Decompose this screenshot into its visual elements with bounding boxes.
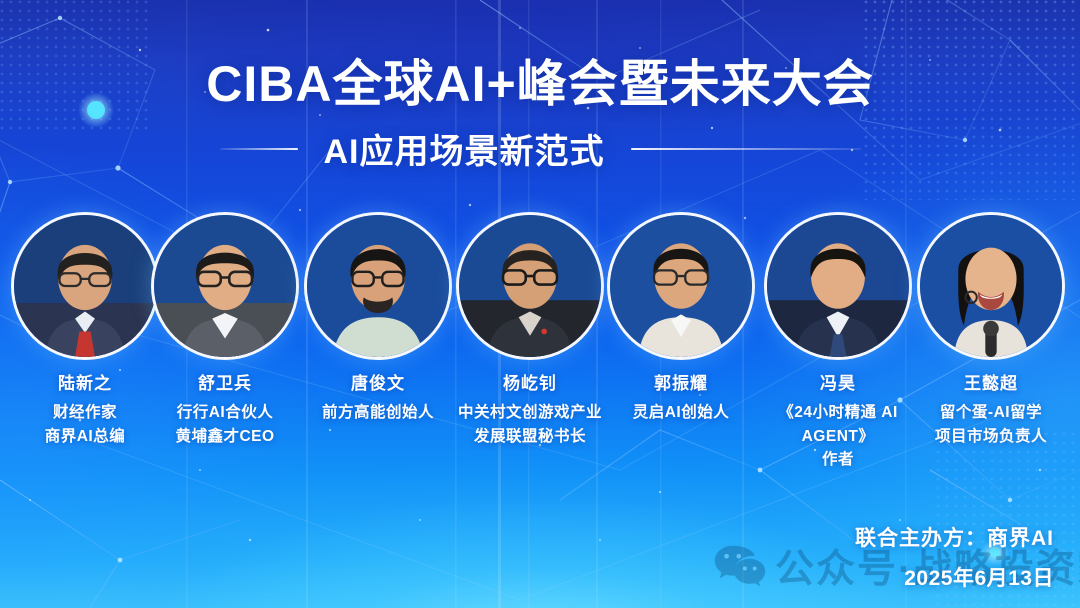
speaker-role-line: 发展联盟秘书长 — [452, 425, 608, 448]
speaker-role: 灵启AI创始人 — [603, 401, 759, 424]
poster-title: CIBA全球AI+峰会暨未来大会 — [0, 44, 1080, 116]
speaker-role-line: 《24小时精通 AI — [760, 401, 916, 424]
speaker-role-line: 黄埔鑫才CEO — [147, 425, 303, 448]
speaker-name: 郭振耀 — [603, 374, 759, 394]
speaker-name: 舒卫兵 — [147, 374, 303, 394]
speaker-name: 冯昊 — [760, 374, 916, 394]
speaker-role: 《24小时精通 AI AGENT》 作者 — [760, 401, 916, 471]
poster-footer: 联合主办方：商界AI 2025年6月13日 — [855, 522, 1054, 592]
speaker-card: 冯昊 《24小时精通 AI AGENT》 作者 — [760, 212, 916, 471]
subtitle-rule-right — [631, 148, 861, 150]
speaker-photo-tang-junwen — [304, 212, 452, 360]
speaker-card: 王懿超 留个蛋-AI留学 项目市场负责人 — [913, 212, 1069, 448]
speaker-photo-guo-zhenyao — [607, 212, 755, 360]
footer-host: 联合主办方：商界AI — [855, 522, 1054, 552]
speaker-role-line: 作者 — [760, 448, 916, 471]
poster-subtitle-row: AI应用场景新范式 — [0, 124, 1080, 173]
speaker-role: 中关村文创游戏产业 发展联盟秘书长 — [452, 401, 608, 448]
speaker-photo-wang-yichao — [917, 212, 1065, 360]
speaker-role-line: 留个蛋-AI留学 — [913, 401, 1069, 424]
speaker-role-line: 中关村文创游戏产业 — [452, 401, 608, 424]
speaker-photo-lu-xinzhi — [11, 212, 159, 360]
speaker-photo-yang-yizhao — [456, 212, 604, 360]
speaker-card: 舒卫兵 行行AI合伙人 黄埔鑫才CEO — [147, 212, 303, 448]
speaker-role: 留个蛋-AI留学 项目市场负责人 — [913, 401, 1069, 448]
speaker-role-line: 财经作家 — [7, 401, 163, 424]
footer-date: 2025年6月13日 — [855, 562, 1054, 592]
speaker-role-line: 商界AI总编 — [7, 425, 163, 448]
speaker-name: 王懿超 — [913, 374, 1069, 394]
speaker-card: 陆新之 财经作家 商界AI总编 — [7, 212, 163, 448]
speaker-list: 陆新之 财经作家 商界AI总编 舒卫兵 — [0, 212, 1080, 512]
speaker-card: 唐俊文 前方高能创始人 — [300, 212, 456, 425]
speaker-name: 唐俊文 — [300, 374, 456, 394]
speaker-card: 杨屹钊 中关村文创游戏产业 发展联盟秘书长 — [452, 212, 608, 448]
speaker-name: 陆新之 — [7, 374, 163, 394]
speaker-role: 前方高能创始人 — [300, 401, 456, 424]
speaker-photo-feng-hao — [764, 212, 912, 360]
subtitle-rule-left — [220, 148, 298, 150]
speaker-role-line: 项目市场负责人 — [913, 425, 1069, 448]
speaker-role-line: 灵启AI创始人 — [603, 401, 759, 424]
speaker-card: 郭振耀 灵启AI创始人 — [603, 212, 759, 425]
event-poster: CIBA全球AI+峰会暨未来大会 AI应用场景新范式 — [0, 0, 1080, 608]
speaker-name: 杨屹钊 — [452, 374, 608, 394]
speaker-role: 财经作家 商界AI总编 — [7, 401, 163, 448]
speaker-role: 行行AI合伙人 黄埔鑫才CEO — [147, 401, 303, 448]
speaker-role-line: 行行AI合伙人 — [147, 401, 303, 424]
speaker-photo-shu-weibing — [151, 212, 299, 360]
poster-subtitle: AI应用场景新范式 — [324, 124, 605, 173]
speaker-role-line: AGENT》 — [760, 425, 916, 448]
speaker-role-line: 前方高能创始人 — [300, 401, 456, 424]
